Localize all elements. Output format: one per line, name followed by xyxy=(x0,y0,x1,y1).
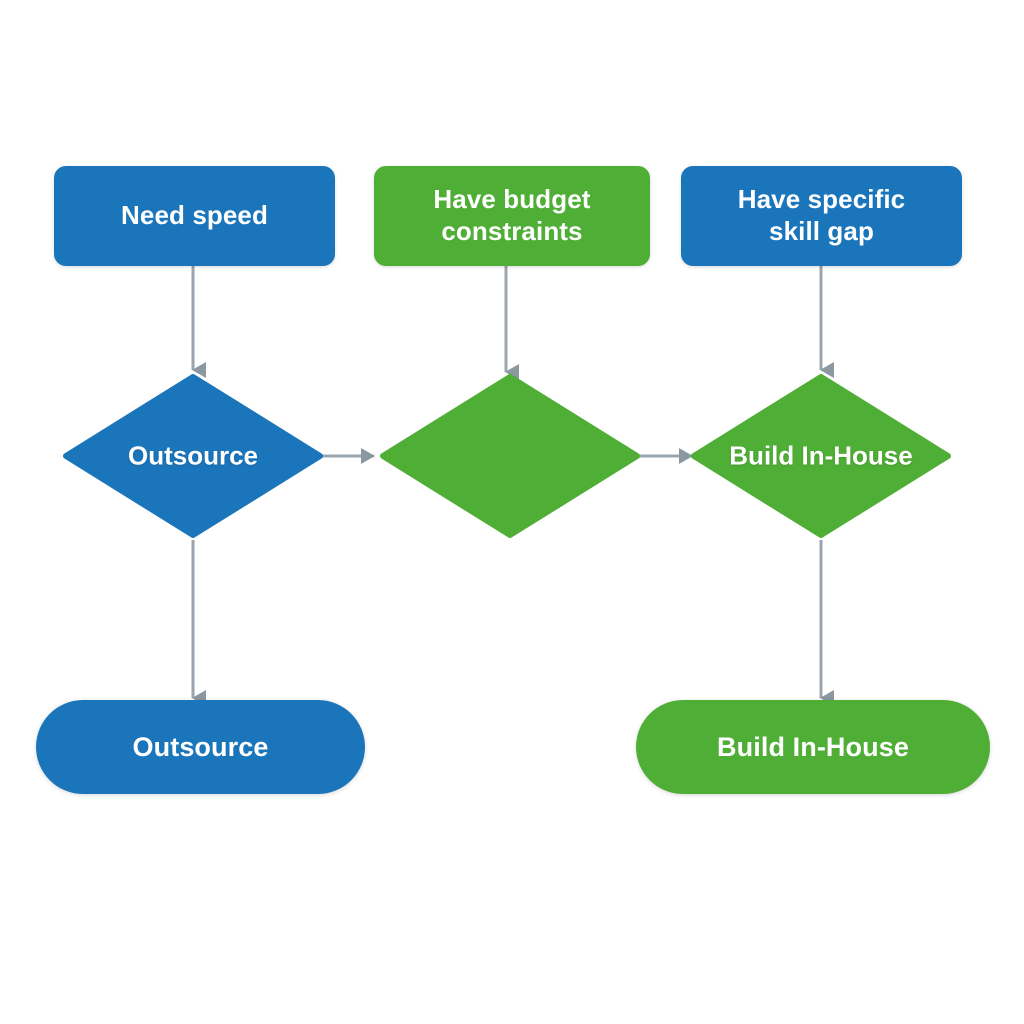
diamond-shape-middle xyxy=(380,374,640,538)
node-label-result-build-in-house: Build In-House xyxy=(717,731,909,764)
node-condition-skill-gap[interactable]: Have specific skill gap xyxy=(681,166,962,266)
node-label-decision-build-in-house: Build In-House xyxy=(729,441,912,472)
node-label-skill-gap-line2: skill gap xyxy=(769,216,874,248)
node-result-outsource[interactable]: Outsource xyxy=(36,700,365,794)
node-condition-budget-constraints[interactable]: Have budget constraints xyxy=(374,166,650,266)
node-label-need-speed: Need speed xyxy=(121,200,268,232)
node-decision-outsource[interactable]: Outsource xyxy=(63,374,323,538)
node-condition-need-speed[interactable]: Need speed xyxy=(54,166,335,266)
node-label-budget-line2: constraints xyxy=(441,216,582,248)
node-label-decision-outsource: Outsource xyxy=(128,441,258,472)
flowchart-canvas: Need speed Have budget constraints Have … xyxy=(0,0,1024,1024)
node-result-build-in-house[interactable]: Build In-House xyxy=(636,700,990,794)
node-decision-middle[interactable] xyxy=(380,374,640,538)
node-label-skill-gap-line1: Have specific xyxy=(738,184,906,216)
node-label-result-outsource: Outsource xyxy=(133,731,269,764)
node-decision-build-in-house[interactable]: Build In-House xyxy=(691,374,951,538)
node-label-budget-line1: Have budget xyxy=(433,184,590,216)
